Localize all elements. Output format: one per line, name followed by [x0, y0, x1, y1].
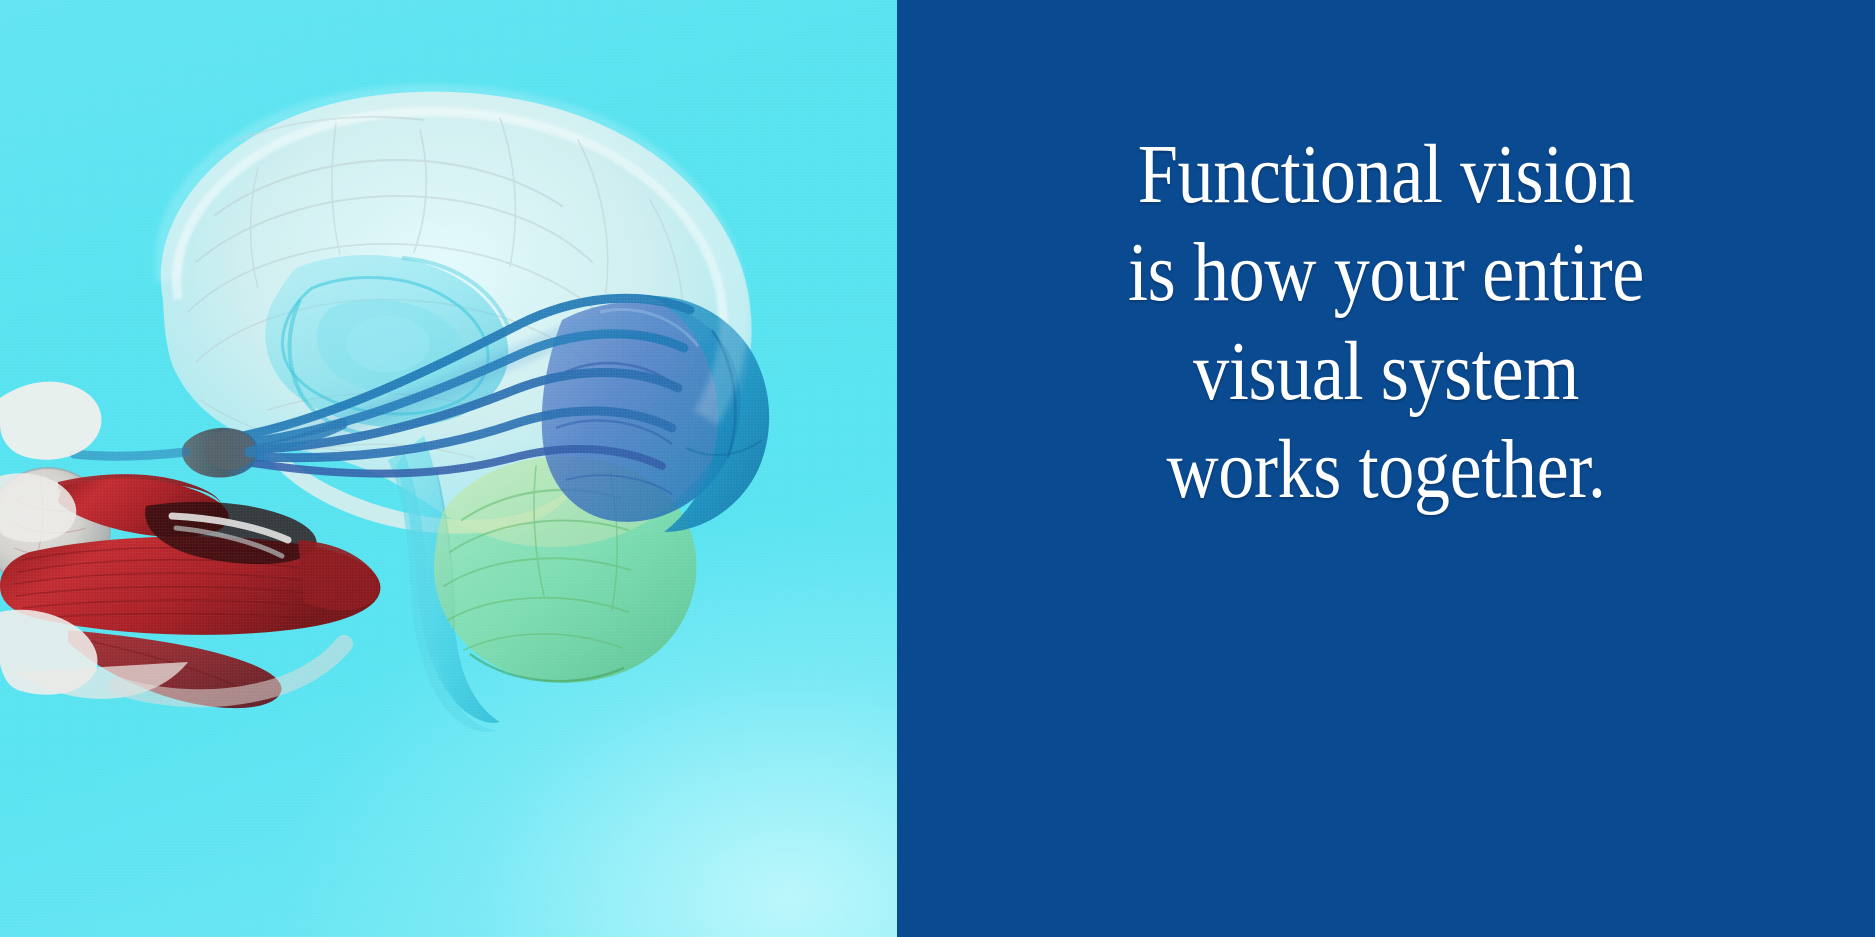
- graphic-canvas: Functional vision is how your entire vis…: [0, 0, 1875, 937]
- headline-line-3: visual system: [965, 323, 1806, 421]
- headline-line-2: is how your entire: [965, 224, 1806, 322]
- headline-line-1: Functional vision: [965, 126, 1806, 224]
- headline-panel: Functional vision is how your entire vis…: [897, 0, 1875, 937]
- page-title: Functional vision is how your entire vis…: [897, 0, 1875, 519]
- brain-illustration-panel: [0, 0, 897, 937]
- brain-anatomy-illustration: [0, 0, 897, 937]
- headline-line-4: works together.: [965, 421, 1806, 519]
